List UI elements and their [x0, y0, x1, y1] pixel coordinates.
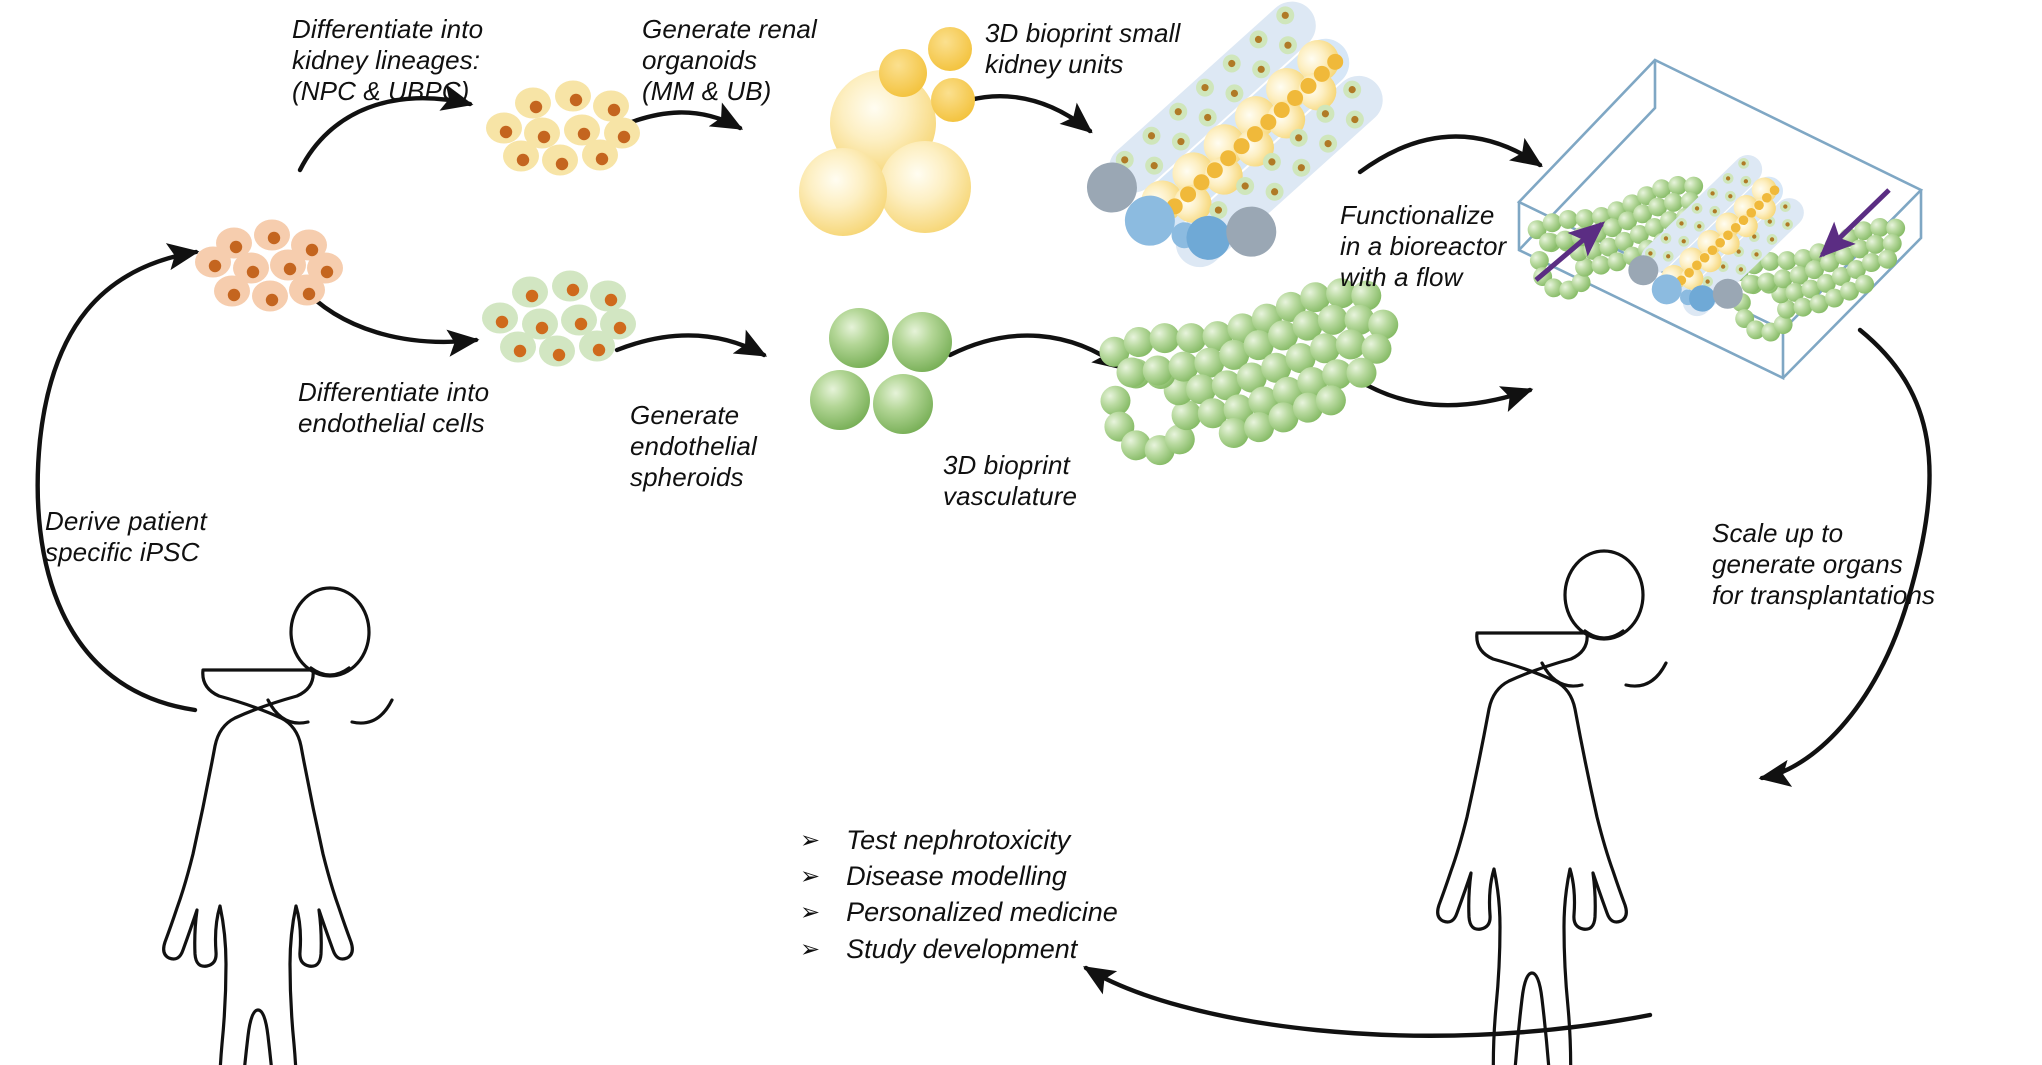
label-bioprint-kidney: 3D bioprint small kidney units: [985, 18, 1180, 80]
list-item-label: Personalized medicine: [846, 894, 1118, 930]
endothelial-spheroids: [810, 308, 952, 434]
label-functionalize: Functionalize in a bioreactor with a flo…: [1340, 200, 1506, 294]
label-scale-up: Scale up to generate organs for transpla…: [1712, 518, 1935, 612]
diagram-canvas: Differentiate into kidney lineages: (NPC…: [0, 0, 2042, 1065]
arrow-patient-to-ipsc: [38, 252, 196, 710]
arrow-spheroid-to-vasculature: [950, 336, 1122, 368]
list-item: ➢ Personalized medicine: [800, 894, 1118, 930]
bullet-arrow-icon: ➢: [800, 829, 820, 853]
kidney-lineage-colony: [486, 81, 640, 176]
bullet-arrow-icon: ➢: [800, 865, 820, 889]
list-item: ➢ Test nephrotoxicity: [800, 822, 1118, 858]
list-item-label: Test nephrotoxicity: [846, 822, 1070, 858]
label-differentiate-endothelial: Differentiate into endothelial cells: [298, 377, 489, 439]
bioprinted-vasculature: [1083, 266, 1417, 476]
renal-organoids: [799, 27, 975, 236]
patient-figure-left: [164, 588, 392, 1065]
endothelial-colony: [482, 271, 636, 367]
bioreactor: [1517, 60, 1926, 378]
label-differentiate-kidney: Differentiate into kidney lineages: (NPC…: [292, 14, 483, 108]
arrow-vasculature-to-bioreactor: [1350, 375, 1530, 405]
applications-list: ➢ Test nephrotoxicity ➢ Disease modellin…: [800, 822, 1118, 967]
arrow-bioprint-to-bioreactor: [1360, 136, 1540, 172]
list-item-label: Study development: [846, 931, 1077, 967]
list-item: ➢ Study development: [800, 931, 1118, 967]
patient-figure-right: [1438, 551, 1666, 1065]
label-generate-spheroids: Generate endothelial spheroids: [630, 400, 757, 494]
arrow-endothelial-to-spheroid: [617, 336, 764, 355]
list-item: ➢ Disease modelling: [800, 858, 1118, 894]
ipsc-colony: [195, 220, 343, 312]
arrow-ipsc-to-endothelial: [300, 285, 476, 342]
bullet-arrow-icon: ➢: [800, 938, 820, 962]
arrow-ipsc-to-kidney-lineage: [300, 98, 470, 170]
bullet-arrow-icon: ➢: [800, 901, 820, 925]
label-derive-ipsc: Derive patient specific iPSC: [45, 506, 207, 568]
label-generate-organoids: Generate renal organoids (MM & UB): [642, 14, 817, 108]
label-bioprint-vasculature: 3D bioprint vasculature: [943, 450, 1077, 512]
list-item-label: Disease modelling: [846, 858, 1067, 894]
